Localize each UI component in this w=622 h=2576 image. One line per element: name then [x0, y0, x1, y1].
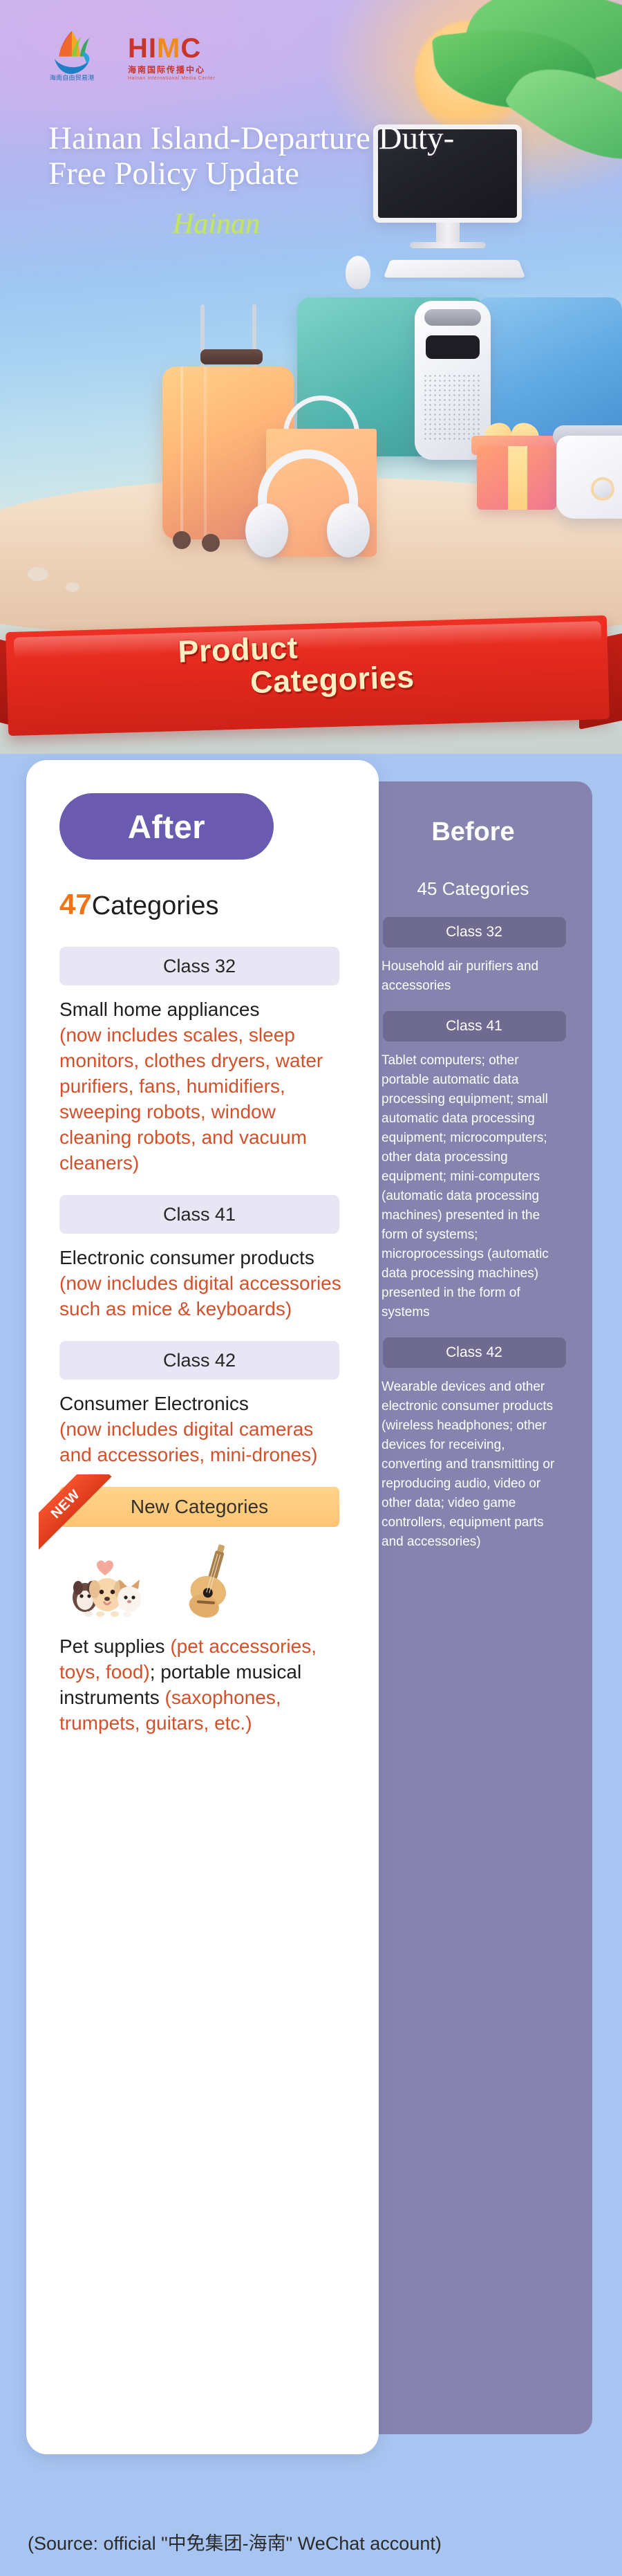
suitcase-grip	[200, 349, 263, 364]
after-class-item: Class 32 Small home appliances (now incl…	[59, 947, 350, 1176]
after-count-label: Categories	[92, 891, 219, 920]
before-class-item: Class 32 Household air purifiers and acc…	[381, 917, 567, 996]
after-class-note: (now includes digital cameras and access…	[59, 1416, 350, 1467]
product-categories-ribbon: Product Categories	[0, 609, 622, 754]
after-count-number: 47	[59, 888, 92, 920]
keyboard-icon	[384, 260, 525, 278]
new-categories-block: New Categories NEW	[59, 1487, 350, 1736]
after-class-main: Electronic consumer products	[59, 1245, 350, 1270]
page-title: Hainan Island-Departure Duty-Free Policy…	[48, 121, 491, 192]
before-class-text: Tablet computers; other portable automat…	[381, 1051, 567, 1322]
suitcase-wheel	[173, 531, 191, 549]
source-text: (Source: official "中免集团-海南" WeChat accou…	[28, 2528, 442, 2555]
before-class-list: Class 32 Household air purifiers and acc…	[381, 917, 567, 1567]
after-class-main: Small home appliances	[59, 997, 350, 1022]
before-title: Before	[354, 817, 592, 847]
pebble	[28, 567, 48, 581]
before-category-count: 45 Categories	[354, 878, 592, 900]
headphones-icon	[245, 450, 370, 567]
logo-left-cn-text: 海南自由贸易港	[50, 73, 95, 82]
after-class-chip: Class 42	[59, 1341, 339, 1380]
after-card: After 47Categories Class 32 Small home a…	[26, 760, 379, 2454]
script-accent-text: Hainan	[173, 207, 260, 241]
after-class-note: (now includes scales, sleep monitors, cl…	[59, 1022, 350, 1176]
after-pill-label: After	[128, 808, 205, 846]
himc-english-name: Hainan International Media Center	[128, 76, 294, 81]
guitar-icon	[187, 1542, 236, 1618]
after-class-item: Class 41 Electronic consumer products (n…	[59, 1195, 350, 1322]
pets-icon	[69, 1559, 145, 1618]
after-category-count: 47Categories	[59, 888, 350, 921]
after-class-main: Consumer Electronics	[59, 1391, 350, 1416]
hero-banner: 海南自由贸易港 HIMC 海南国际传播中心 Hainan Internation…	[0, 0, 622, 754]
hainan-free-trade-port-logo: 海南自由贸易港	[43, 26, 101, 84]
new-categories-header: New Categories	[59, 1487, 339, 1527]
after-pill: After	[59, 793, 274, 860]
before-class-chip: Class 42	[383, 1337, 566, 1368]
rice-cooker-icon	[556, 436, 622, 519]
before-class-chip: Class 41	[383, 1011, 566, 1041]
before-class-item: Class 41 Tablet computers; other portabl…	[381, 1011, 567, 1322]
before-class-item: Class 42 Wearable devices and other elec…	[381, 1337, 567, 1552]
after-class-note: (now includes digital accessories such a…	[59, 1270, 350, 1322]
logo-row: 海南自由贸易港 HIMC 海南国际传播中心 Hainan Internation…	[0, 19, 622, 89]
after-class-list: Class 32 Small home appliances (now incl…	[59, 947, 350, 1755]
himc-letters: HIMC	[128, 35, 294, 62]
himc-chinese-name: 海南国际传播中心	[128, 64, 294, 75]
after-class-chip: Class 41	[59, 1195, 339, 1234]
new-categories-text: Pet supplies (pet accessories, toys, foo…	[59, 1633, 350, 1736]
after-class-item: Class 42 Consumer Electronics (now inclu…	[59, 1341, 350, 1467]
mouse-icon	[346, 256, 370, 289]
rice-cooker-knob	[591, 477, 614, 501]
after-class-chip: Class 32	[59, 947, 339, 985]
suitcase-wheel	[202, 534, 220, 552]
before-card: Before 45 Categories Class 32 Household …	[354, 781, 592, 2434]
before-class-text: Household air purifiers and accessories	[381, 957, 567, 996]
gift-ribbon	[508, 446, 527, 510]
himc-logo: HIMC 海南国际传播中心 Hainan International Media…	[128, 35, 294, 79]
before-class-chip: Class 32	[383, 917, 566, 947]
before-class-text: Wearable devices and other electronic co…	[381, 1378, 567, 1552]
new-category-icons	[69, 1542, 350, 1618]
blue-box-prop	[477, 297, 622, 443]
pebble	[66, 582, 79, 592]
new-text-main-1: Pet supplies	[59, 1636, 170, 1657]
comparison-section: Before 45 Categories Class 32 Household …	[0, 750, 622, 2496]
footer-source: (Source: official "中免集团-海南" WeChat accou…	[0, 2507, 622, 2576]
